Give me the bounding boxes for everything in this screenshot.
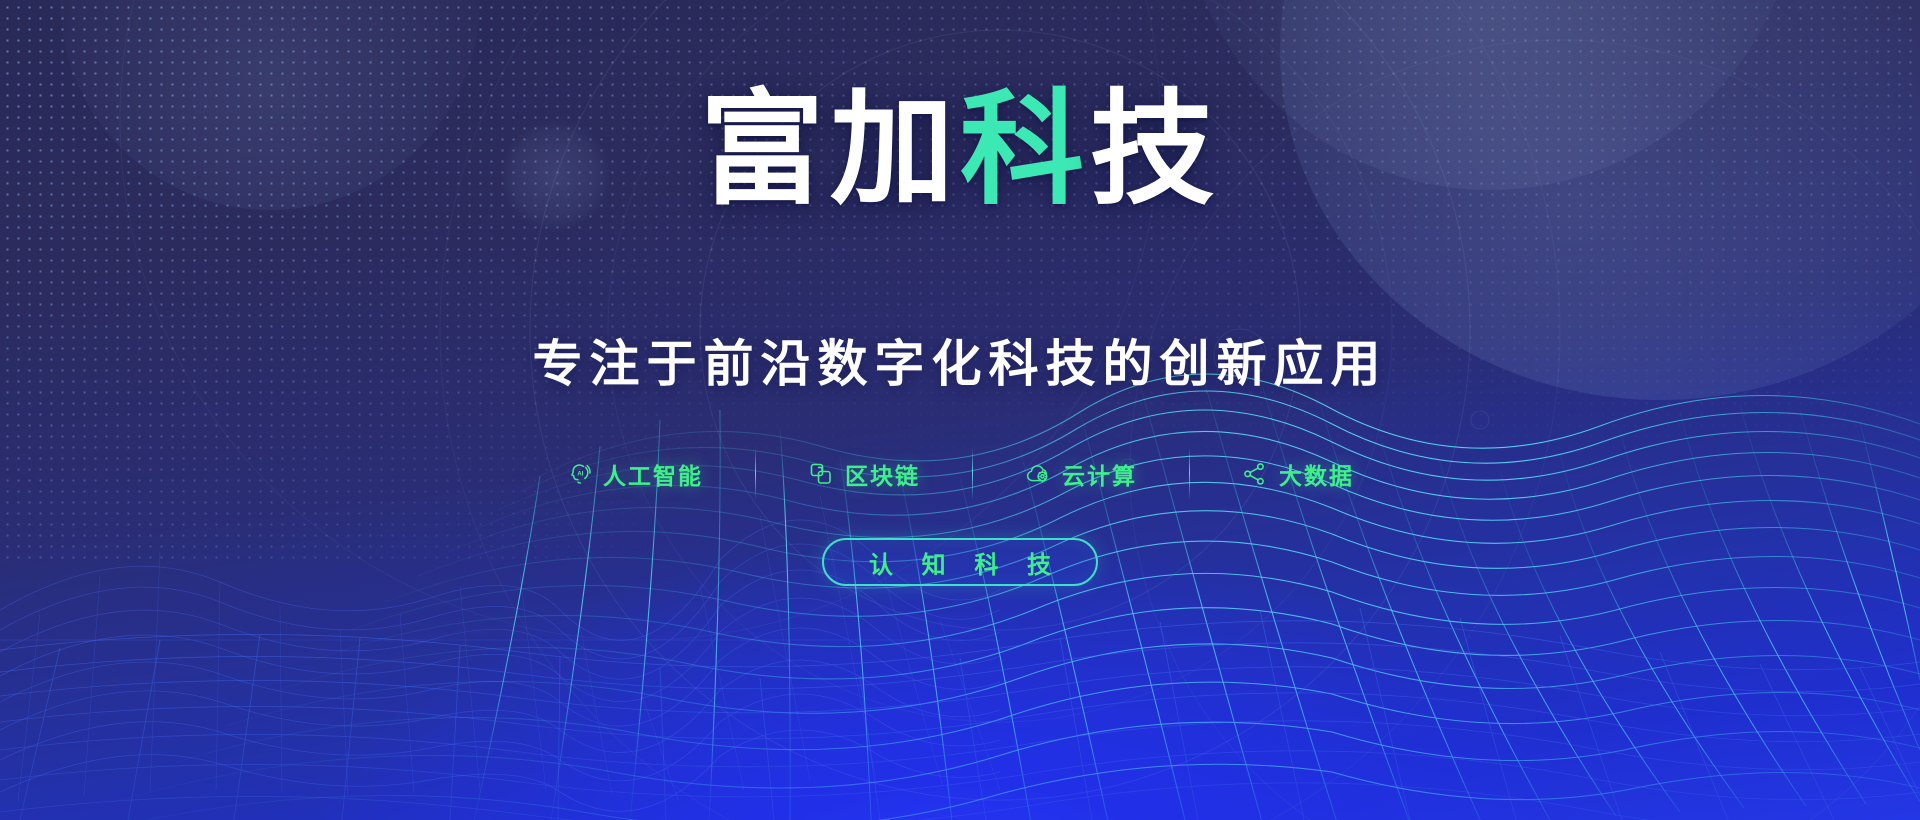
feature-tag-label: 区块链 [845,457,920,491]
cognitive-tech-button[interactable]: 认 知 科 技 [822,538,1098,586]
svg-text:AI: AI [577,470,583,477]
feature-tag-label: 云计算 [1062,457,1137,491]
tagline: 专注于前沿数字化科技的创新应用 [533,324,1388,396]
ai-head-icon: AI [566,461,592,487]
page-title: 富加科技 [700,86,1220,215]
hero-banner: 富加科技 专注于前沿数字化科技的创新应用 AI 人工智能 [0,0,1920,820]
feature-tag-list: AI 人工智能 区块链 [514,448,1406,500]
cloud-computing-icon [1025,461,1051,487]
brand-title-part2: 技 [1090,81,1220,219]
blockchain-blocks-icon [808,461,834,487]
feature-tag-bigdata[interactable]: 大数据 [1190,457,1406,491]
feature-tag-ai[interactable]: AI 人工智能 [514,457,755,491]
feature-tag-label: 大数据 [1279,457,1354,491]
feature-tag-blockchain[interactable]: 区块链 [756,457,972,491]
big-data-share-icon [1242,461,1268,487]
feature-tag-cloud[interactable]: 云计算 [973,457,1189,491]
hero-content: 富加科技 专注于前沿数字化科技的创新应用 AI 人工智能 [0,0,1920,820]
brand-title-accent-char: 科 [960,81,1090,219]
feature-tag-label: 人工智能 [603,457,703,491]
brand-title-part1: 富加 [700,81,960,219]
